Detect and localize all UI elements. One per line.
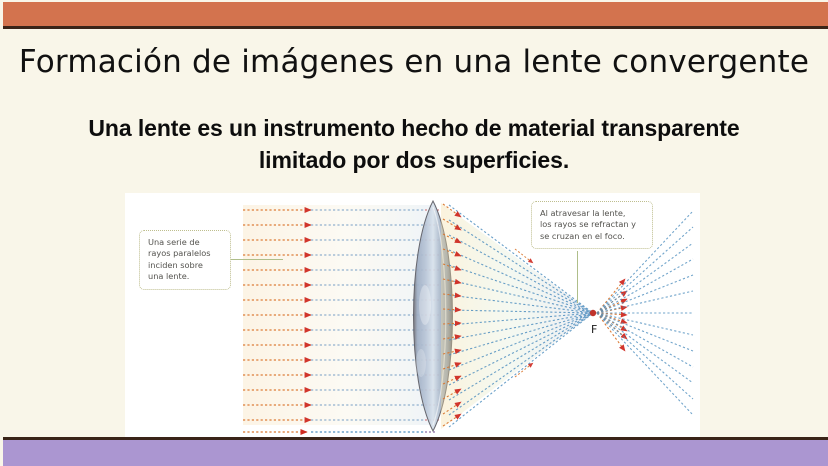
focal-point (590, 310, 596, 316)
callout-left-line-1: Una serie de (148, 237, 223, 248)
callout-right-leader-line (577, 251, 578, 303)
callout-incident-rays: Una serie de rayos paralelos inciden sob… (139, 230, 231, 290)
bottom-decorative-bar (3, 437, 828, 466)
lens-diagram-figure: Una serie de rayos paralelos inciden sob… (125, 193, 700, 438)
callout-refraction: Al atravesar la lente, los rayos se refr… (531, 201, 653, 249)
callout-right-line-1: Al atravesar la lente, (540, 208, 645, 219)
top-decorative-bar (3, 2, 828, 29)
focal-point-label: F (591, 323, 597, 336)
callout-left-leader-line (231, 259, 283, 260)
callout-right-line-3: se cruzan en el foco. (540, 231, 645, 242)
slide: Formación de imágenes en una lente conve… (0, 0, 828, 466)
callout-left-line-3: inciden sobre (148, 260, 223, 271)
callout-left-line-4: una lente. (148, 271, 223, 282)
callout-left-line-2: rayos paralelos (148, 248, 223, 259)
page-title: Formación de imágenes en una lente conve… (0, 44, 828, 80)
page-subtitle: Una lente es un instrumento hecho de mat… (44, 112, 784, 176)
callout-right-line-2: los rayos se refractan y (540, 219, 645, 230)
